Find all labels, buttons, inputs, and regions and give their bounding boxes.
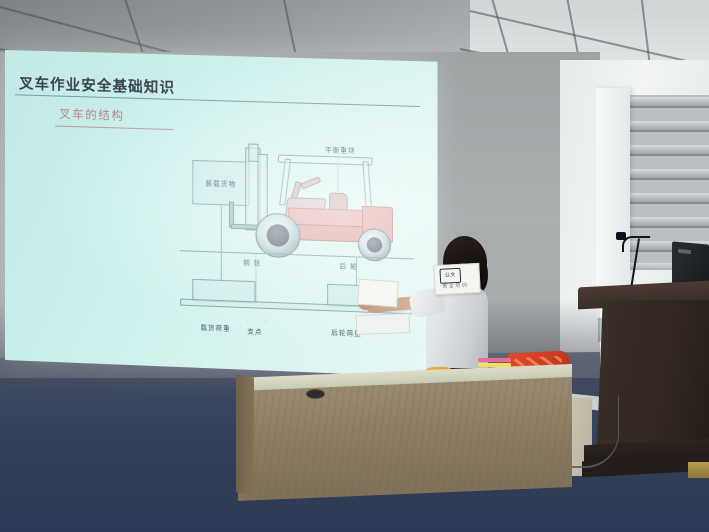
slide-title: 叉车作业安全基础知识: [19, 72, 175, 98]
podium-gold-trim: [688, 462, 709, 478]
held-document: 公文 安全培训: [433, 263, 481, 295]
wall-pillar: [596, 88, 630, 318]
paper-held-left: [357, 279, 399, 308]
forklift-steering-wheel: [300, 176, 321, 189]
desk-left-side: [236, 374, 254, 495]
forklift-diagram: 平衡重块 装载货物: [176, 137, 422, 368]
desk-front-panel: [238, 377, 572, 501]
forklift-rear-post: [362, 161, 372, 212]
forklift-illustration: [225, 139, 405, 262]
desk-cable-grommet: [306, 389, 325, 399]
load-leader-line: [221, 205, 222, 282]
fulcrum-leader-line: [255, 253, 256, 304]
slide-subtitle: 叉车的结构: [59, 106, 124, 124]
subtitle-divider: [55, 126, 174, 131]
front-wheel-label: 前 轮: [243, 256, 261, 267]
laptop-logo-icon: [678, 249, 691, 254]
paper-lower: [356, 313, 411, 335]
forklift-overhead-guard: [278, 155, 373, 166]
rear-leader-line: [356, 256, 357, 286]
fulcrum-label: 支点: [247, 325, 262, 336]
forklift-mast-cap: [248, 143, 258, 162]
load-weight-label: 载货荷重: [200, 321, 230, 332]
screenshot-root: 叉车作业安全基础知识 叉车的结构 平衡重块 装载货物: [0, 0, 709, 532]
fulcrum-triangle: [247, 307, 266, 322]
document-text: 安全培训: [442, 281, 468, 289]
forklift-front-wheel: [255, 212, 300, 258]
